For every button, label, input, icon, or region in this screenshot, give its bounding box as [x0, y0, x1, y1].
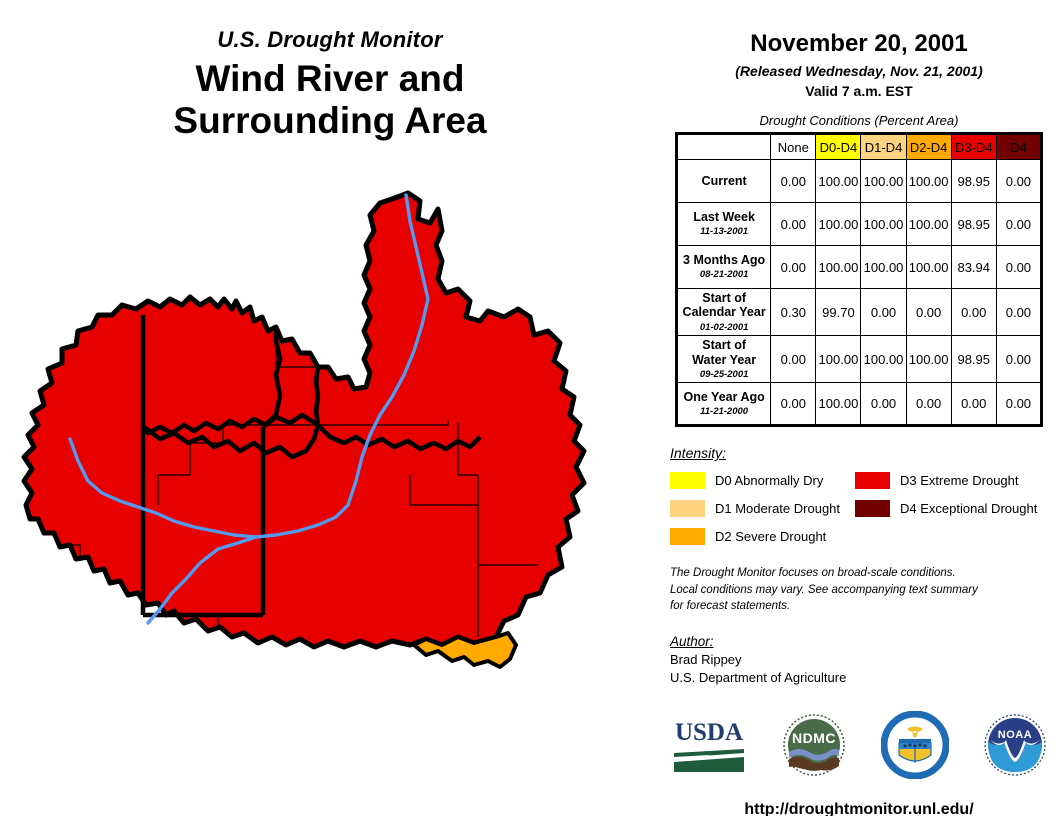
svg-text:USDA: USDA — [675, 719, 743, 746]
legend-item-d1: D1 Moderate Drought — [670, 497, 855, 520]
cell-value: 100.00 — [861, 203, 906, 246]
author-name: Brad Rippey — [670, 652, 1056, 667]
cell-value: 0.00 — [996, 336, 1041, 383]
row-label-start-of-water-year: Start of Water Year 09-25-2001 — [677, 336, 771, 383]
cell-value: 0.00 — [771, 336, 816, 383]
table-row: Current 0.00 100.00 100.00 100.00 98.95 … — [677, 160, 1042, 203]
date-block: November 20, 2001 (Released Wednesday, N… — [662, 0, 1056, 99]
legend-column-left: D0 Abnormally Dry D1 Moderate Drought D2… — [670, 469, 855, 553]
table-body: Current 0.00 100.00 100.00 100.00 98.95 … — [677, 160, 1042, 426]
right-panel: November 20, 2001 (Released Wednesday, N… — [662, 0, 1056, 816]
cell-value: 0.30 — [771, 289, 816, 336]
cell-value: 0.00 — [771, 203, 816, 246]
cell-value: 83.94 — [951, 246, 996, 289]
row-label-3-months-ago: 3 Months Ago 08-21-2001 — [677, 246, 771, 289]
left-header: U.S. Drought Monitor Wind River and Surr… — [0, 28, 660, 141]
cell-value: 0.00 — [996, 203, 1041, 246]
legend-label-d0: D0 Abnormally Dry — [715, 473, 823, 488]
disclaimer-line-1: The Drought Monitor focuses on broad-sca… — [670, 565, 1030, 581]
cell-value: 100.00 — [816, 383, 861, 426]
cell-value: 0.00 — [906, 383, 951, 426]
region-title-line2: Surrounding Area — [0, 100, 660, 141]
row-label-start-of-calendar-year: Start of Calendar Year 01-02-2001 — [677, 289, 771, 336]
cell-value: 100.00 — [906, 203, 951, 246]
legend-item-d3: D3 Extreme Drought — [855, 469, 1040, 492]
table-caption: Drought Conditions (Percent Area) — [662, 113, 1056, 128]
legend-label-d2: D2 Severe Drought — [715, 529, 826, 544]
map-region-d3-extreme — [24, 193, 584, 647]
cell-value: 100.00 — [816, 246, 861, 289]
region-title-line1: Wind River and — [0, 58, 660, 99]
cell-value: 100.00 — [906, 336, 951, 383]
legend-label-d3: D3 Extreme Drought — [900, 473, 1019, 488]
table-col-header-d3: D3-D4 — [951, 134, 996, 160]
legend-swatch-d2 — [670, 528, 705, 545]
cell-value: 0.00 — [996, 289, 1041, 336]
ndmc-logo: NDMC — [781, 712, 847, 783]
cell-value: 0.00 — [771, 160, 816, 203]
cell-value: 0.00 — [861, 383, 906, 426]
drought-map-svg — [18, 175, 658, 695]
row-label-one-year-ago: One Year Ago 11-21-2000 — [677, 383, 771, 426]
cell-value: 100.00 — [906, 246, 951, 289]
table-row: Last Week 11-13-2001 0.00 100.00 100.00 … — [677, 203, 1042, 246]
table-col-header-d4: D4 — [996, 134, 1041, 160]
page-title: Wind River and Surrounding Area — [0, 58, 660, 141]
cell-value: 0.00 — [861, 289, 906, 336]
table-row: One Year Ago 11-21-2000 0.00 100.00 0.00… — [677, 383, 1042, 426]
cell-value: 100.00 — [861, 336, 906, 383]
disclaimer-line-2: Local conditions may vary. See accompany… — [670, 582, 1030, 598]
cell-value: 0.00 — [996, 383, 1041, 426]
drought-monitor-page: U.S. Drought Monitor Wind River and Surr… — [0, 0, 1056, 816]
svg-text:NOAA: NOAA — [998, 729, 1032, 741]
cell-value: 99.70 — [816, 289, 861, 336]
drought-conditions-table: None D0-D4 D1-D4 D2-D4 D3-D4 D4 Current … — [675, 132, 1043, 427]
cell-value: 0.00 — [771, 246, 816, 289]
release-note: (Released Wednesday, Nov. 21, 2001) — [662, 63, 1056, 79]
intensity-legend: Intensity: D0 Abnormally Dry D1 Moderate… — [670, 445, 1056, 553]
cell-value: 98.95 — [951, 160, 996, 203]
table-row: Start of Water Year 09-25-2001 0.00 100.… — [677, 336, 1042, 383]
cell-value: 100.00 — [861, 246, 906, 289]
cell-value: 100.00 — [861, 160, 906, 203]
author-affiliation: U.S. Department of Agriculture — [670, 670, 1056, 685]
cell-value: 100.00 — [906, 160, 951, 203]
cell-value: 0.00 — [771, 383, 816, 426]
legend-swatch-d1 — [670, 500, 705, 517]
legend-swatch-d4 — [855, 500, 890, 517]
cell-value: 98.95 — [951, 203, 996, 246]
legend-item-d4: D4 Exceptional Drought — [855, 497, 1040, 520]
legend-label-d4: D4 Exceptional Drought — [900, 501, 1037, 516]
cell-value: 0.00 — [906, 289, 951, 336]
legend-item-d0: D0 Abnormally Dry — [670, 469, 855, 492]
legend-label-d1: D1 Moderate Drought — [715, 501, 840, 516]
legend-title: Intensity: — [670, 445, 1056, 461]
table-header-row: None D0-D4 D1-D4 D2-D4 D3-D4 D4 — [677, 134, 1042, 160]
valid-time: Valid 7 a.m. EST — [662, 83, 1056, 99]
noaa-logo: NOAA — [982, 712, 1048, 783]
drought-map — [18, 175, 658, 695]
cell-value: 0.00 — [951, 383, 996, 426]
legend-column-right: D3 Extreme Drought D4 Exceptional Drough… — [855, 469, 1040, 553]
website-url[interactable]: http://droughtmonitor.unl.edu/ — [662, 801, 1056, 816]
doc-seal-logo — [881, 711, 949, 784]
cell-value: 100.00 — [816, 336, 861, 383]
row-label-last-week: Last Week 11-13-2001 — [677, 203, 771, 246]
row-label-current: Current — [677, 160, 771, 203]
cell-value: 98.95 — [951, 336, 996, 383]
svg-text:NDMC: NDMC — [792, 730, 836, 746]
author-title: Author: — [670, 634, 1056, 649]
cell-value: 100.00 — [816, 203, 861, 246]
cell-value: 0.00 — [996, 246, 1041, 289]
cell-value: 0.00 — [996, 160, 1041, 203]
author-block: Author: Brad Rippey U.S. Department of A… — [670, 634, 1056, 685]
table-row: 3 Months Ago 08-21-2001 0.00 100.00 100.… — [677, 246, 1042, 289]
legend-item-d2: D2 Severe Drought — [670, 525, 855, 548]
drought-monitor-eyebrow: U.S. Drought Monitor — [0, 28, 660, 52]
legend-swatch-d0 — [670, 472, 705, 489]
legend-swatch-d3 — [855, 472, 890, 489]
table-col-header-none: None — [771, 134, 816, 160]
table-corner-cell — [677, 134, 771, 160]
cell-value: 0.00 — [951, 289, 996, 336]
usda-logo: USDA — [670, 716, 748, 779]
table-col-header-d0: D0-D4 — [816, 134, 861, 160]
table-col-header-d1: D1-D4 — [861, 134, 906, 160]
table-row: Start of Calendar Year 01-02-2001 0.30 9… — [677, 289, 1042, 336]
table-col-header-d2: D2-D4 — [906, 134, 951, 160]
disclaimer-text: The Drought Monitor focuses on broad-sca… — [670, 565, 1030, 614]
cell-value: 100.00 — [816, 160, 861, 203]
disclaimer-line-3: for forecast statements. — [670, 598, 1030, 614]
issue-date: November 20, 2001 — [662, 30, 1056, 58]
logo-row: USDA NDMC — [670, 707, 1048, 787]
